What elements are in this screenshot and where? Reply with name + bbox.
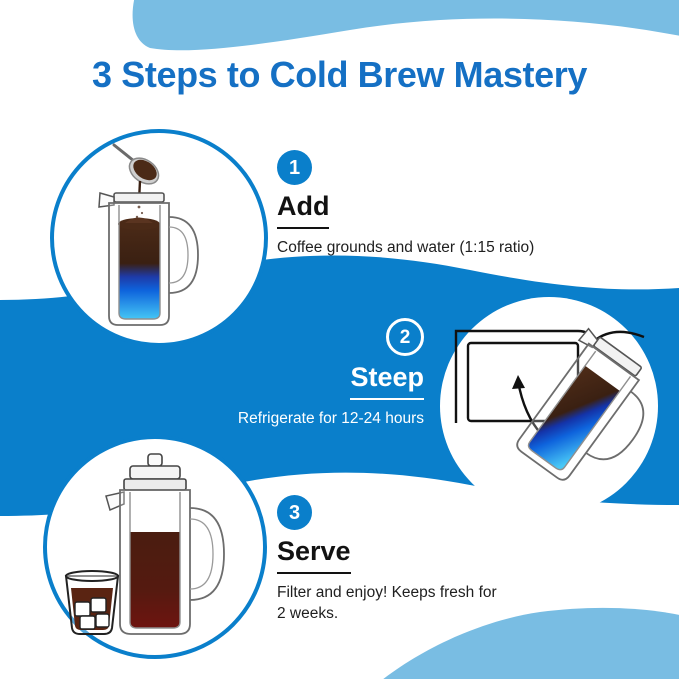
- pitcher-liquid: [119, 223, 160, 319]
- pitcher-handle: [190, 508, 224, 600]
- step-3-number-badge: 3: [277, 495, 312, 530]
- page-title: 3 Steps to Cold Brew Mastery: [0, 54, 679, 96]
- pitcher-lid-knob: [124, 454, 186, 490]
- step-2-illustration: [438, 295, 660, 517]
- insert-arrow-head: [512, 375, 525, 389]
- step-2-title: Steep: [350, 363, 424, 400]
- step-1-title: Add: [277, 192, 329, 229]
- step-1-number-badge: 1: [277, 150, 312, 185]
- iced-coffee-glass: [66, 571, 118, 634]
- step-1-description: Coffee grounds and water (1:15 ratio): [277, 238, 534, 259]
- step-3-description: Filter and enjoy! Keeps fresh for 2 week…: [277, 583, 497, 625]
- step-2-text-block: 2 Steep Refrigerate for 12-24 hours: [0, 318, 424, 430]
- pitcher-coffee-liquid: [130, 532, 180, 628]
- infographic-poster: 3 Steps to Cold Brew Mastery: [0, 0, 679, 679]
- pitcher-handle: [169, 217, 198, 293]
- glass-rim: [66, 571, 118, 581]
- step-3-title: Serve: [277, 537, 351, 574]
- step-2-number-badge: 2: [386, 318, 424, 356]
- step-2-description: Refrigerate for 12-24 hours: [0, 409, 424, 430]
- pitcher-handle-inner: [169, 227, 188, 283]
- top-light-blue-blob: [133, 0, 679, 50]
- pitcher-lid: [114, 193, 164, 202]
- pitcher-handle-inner: [190, 519, 213, 589]
- step-3-illustration: [44, 436, 266, 658]
- step-3-text-block: 3 Serve Filter and enjoy! Keeps fresh fo…: [277, 495, 497, 625]
- step-1-text-block: 1 Add Coffee grounds and water (1:15 rat…: [277, 150, 534, 259]
- step-1-illustration: [52, 131, 267, 346]
